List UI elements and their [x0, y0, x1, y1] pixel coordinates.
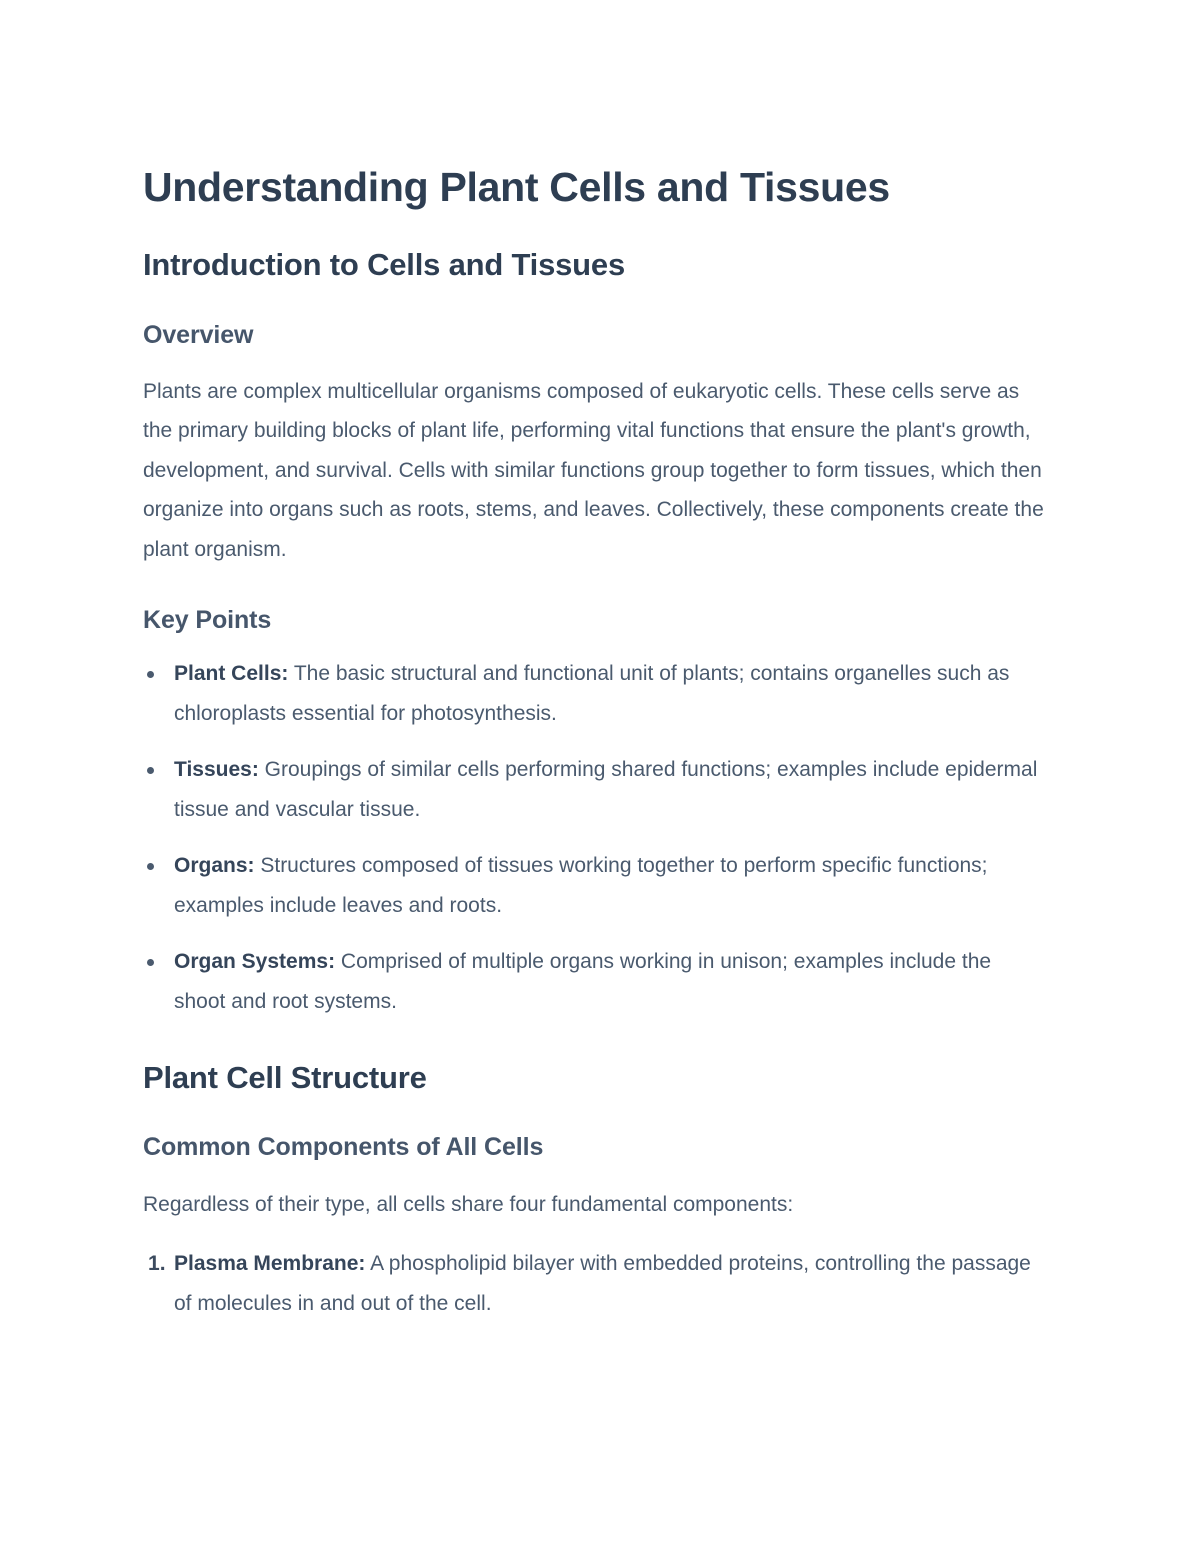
- list-item: Organ Systems: Comprised of multiple org…: [143, 942, 1045, 1021]
- section-heading-introduction: Introduction to Cells and Tissues: [143, 211, 1045, 283]
- list-item-term: Tissues:: [174, 758, 259, 781]
- list-item-text: Structures composed of tissues working t…: [174, 854, 988, 916]
- list-item-term: Plasma Membrane:: [174, 1252, 365, 1275]
- document-page: Understanding Plant Cells and Tissues In…: [0, 0, 1200, 1553]
- common-components-paragraph: Regardless of their type, all cells shar…: [143, 1164, 1045, 1224]
- page-title: Understanding Plant Cells and Tissues: [143, 0, 1045, 211]
- list-item: Organs: Structures composed of tissues w…: [143, 846, 1045, 925]
- list-item-term: Organ Systems:: [174, 950, 335, 973]
- list-item: Tissues: Groupings of similar cells perf…: [143, 750, 1045, 829]
- list-item-term: Plant Cells:: [174, 662, 288, 685]
- section-heading-plant-cell-structure: Plant Cell Structure: [143, 1021, 1045, 1096]
- subsection-heading-overview: Overview: [143, 284, 1045, 351]
- overview-paragraph: Plants are complex multicellular organis…: [143, 351, 1045, 569]
- subsection-heading-common-components: Common Components of All Cells: [143, 1096, 1045, 1163]
- common-components-list: Plasma Membrane: A phospholipid bilayer …: [143, 1224, 1045, 1323]
- list-item-term: Organs:: [174, 854, 255, 877]
- subsection-heading-key-points: Key Points: [143, 569, 1045, 636]
- key-points-list: Plant Cells: The basic structural and fu…: [143, 636, 1045, 1021]
- list-item-text: Groupings of similar cells performing sh…: [174, 758, 1037, 820]
- list-item-text: The basic structural and functional unit…: [174, 662, 1009, 724]
- list-item: Plant Cells: The basic structural and fu…: [143, 654, 1045, 733]
- list-item: Plasma Membrane: A phospholipid bilayer …: [143, 1244, 1045, 1323]
- document-content: Understanding Plant Cells and Tissues In…: [143, 0, 1045, 1323]
